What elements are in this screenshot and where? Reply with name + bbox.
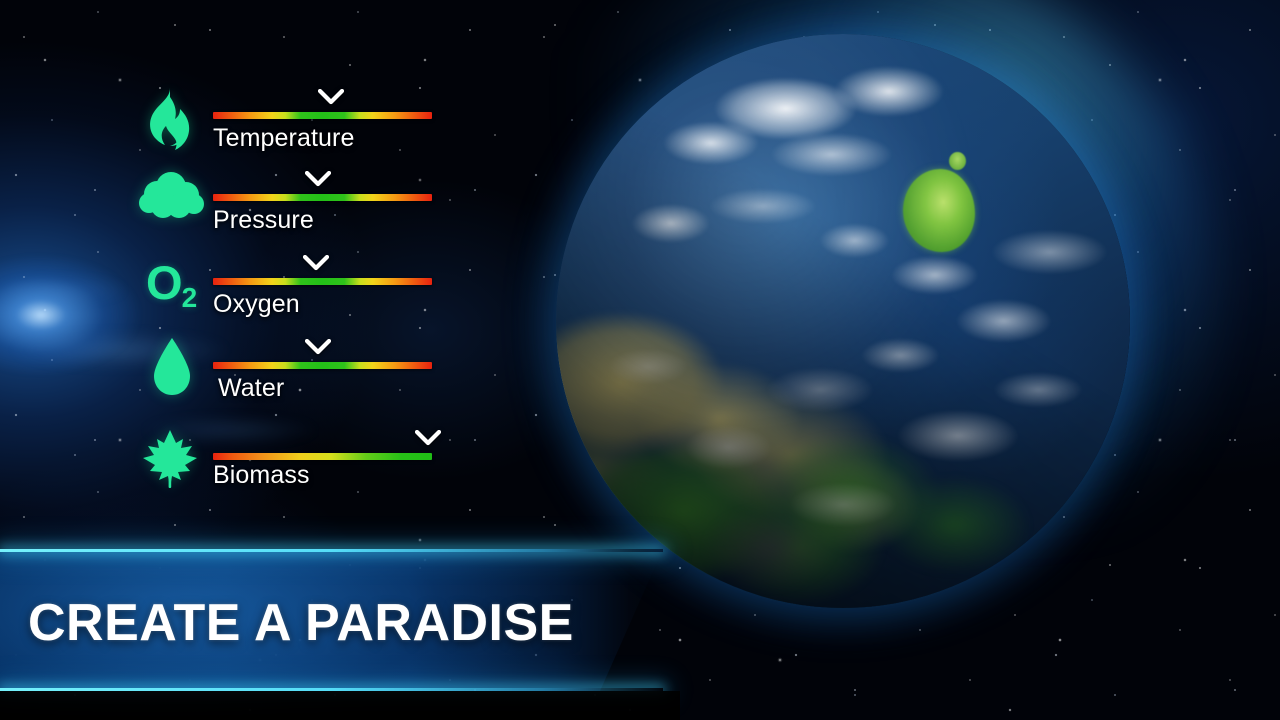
planet-atmosphere-highlight	[548, 26, 1138, 616]
gauge-marker-water[interactable]	[305, 339, 331, 355]
water-drop-icon	[152, 338, 192, 396]
gauge-bar-pressure[interactable]	[213, 194, 432, 201]
flame-icon	[140, 88, 192, 150]
gauge-label-water: Water	[218, 374, 284, 403]
gauge-marker-biomass[interactable]	[415, 430, 441, 446]
planet	[556, 34, 1130, 608]
cloud-icon	[137, 172, 205, 222]
gauge-bar-water[interactable]	[213, 362, 432, 369]
gauge-label-biomass: Biomass	[213, 461, 310, 490]
gauge-bar-temperature[interactable]	[213, 112, 432, 119]
banner-top-edge-glow	[0, 549, 663, 552]
gauge-bar-oxygen[interactable]	[213, 278, 432, 285]
terraform-gauge-panel: TemperaturePressureO2OxygenWaterBiomass	[0, 0, 470, 520]
gauge-label-temperature: Temperature	[213, 124, 354, 153]
gauge-marker-pressure[interactable]	[305, 171, 331, 187]
gauge-label-oxygen: Oxygen	[213, 290, 300, 319]
leaf-icon	[143, 430, 197, 488]
gauge-label-pressure: Pressure	[213, 206, 314, 235]
gauge-marker-oxygen[interactable]	[303, 255, 329, 271]
game-promo-scene: TemperaturePressureO2OxygenWaterBiomass …	[0, 0, 1280, 720]
gauge-bar-biomass[interactable]	[213, 453, 432, 460]
o2-icon: O2	[146, 259, 196, 312]
banner-lower-bar	[0, 691, 680, 720]
gauge-marker-temperature[interactable]	[318, 89, 344, 105]
headline-text: CREATE A PARADISE	[28, 593, 574, 653]
headline-banner: CREATE A PARADISE	[0, 549, 663, 691]
